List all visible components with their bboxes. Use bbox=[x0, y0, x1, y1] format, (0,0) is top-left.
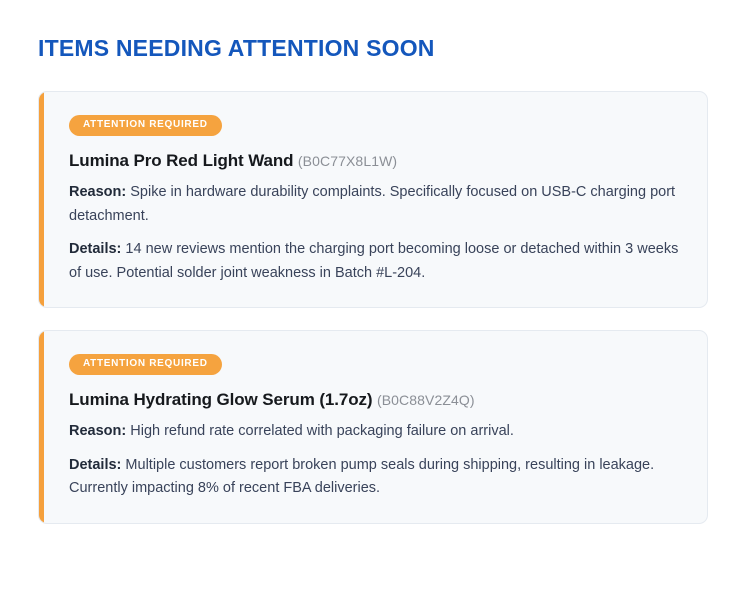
product-name: Lumina Hydrating Glow Serum (1.7oz) bbox=[69, 390, 372, 409]
reason-label: Reason: bbox=[69, 184, 126, 200]
details-value: 14 new reviews mention the charging port… bbox=[69, 241, 678, 280]
product-heading: Lumina Pro Red Light Wand (B0C77X8L1W) bbox=[69, 150, 681, 172]
page-title: ITEMS NEEDING ATTENTION SOON bbox=[38, 36, 708, 61]
alert-card-list: ATTENTION REQUIRED Lumina Pro Red Light … bbox=[38, 91, 708, 523]
attention-items-page: ITEMS NEEDING ATTENTION SOON ATTENTION R… bbox=[0, 0, 746, 524]
details-label: Details: bbox=[69, 241, 121, 257]
alert-card[interactable]: ATTENTION REQUIRED Lumina Pro Red Light … bbox=[38, 91, 708, 308]
reason-label: Reason: bbox=[69, 423, 126, 439]
reason-value: Spike in hardware durability complaints.… bbox=[69, 184, 675, 223]
alert-accent-bar bbox=[39, 92, 44, 307]
status-badge: ATTENTION REQUIRED bbox=[69, 115, 222, 136]
details-label: Details: bbox=[69, 457, 121, 473]
details-row: Details: 14 new reviews mention the char… bbox=[69, 238, 681, 285]
alert-accent-bar bbox=[39, 331, 44, 522]
product-name: Lumina Pro Red Light Wand bbox=[69, 151, 293, 170]
alert-card[interactable]: ATTENTION REQUIRED Lumina Hydrating Glow… bbox=[38, 330, 708, 523]
reason-row: Reason: High refund rate correlated with… bbox=[69, 420, 681, 443]
reason-row: Reason: Spike in hardware durability com… bbox=[69, 181, 681, 228]
product-asin: (B0C77X8L1W) bbox=[298, 153, 397, 169]
reason-value: High refund rate correlated with packagi… bbox=[130, 423, 514, 439]
details-row: Details: Multiple customers report broke… bbox=[69, 454, 681, 501]
product-asin: (B0C88V2Z4Q) bbox=[377, 392, 475, 408]
status-badge: ATTENTION REQUIRED bbox=[69, 354, 222, 375]
product-heading: Lumina Hydrating Glow Serum (1.7oz) (B0C… bbox=[69, 389, 681, 411]
details-value: Multiple customers report broken pump se… bbox=[69, 457, 654, 496]
